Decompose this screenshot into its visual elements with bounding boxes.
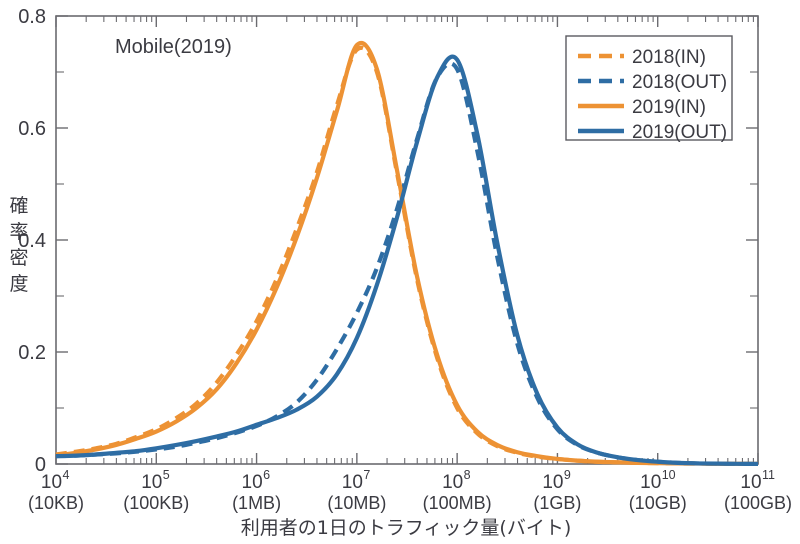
- svg-text:9: 9: [564, 468, 571, 482]
- x-axis-title: 利用者の1日のトラフィック量(バイト): [241, 517, 572, 539]
- y-tick-label: 0.8: [18, 6, 46, 28]
- svg-text:4: 4: [63, 468, 70, 482]
- svg-text:11: 11: [762, 468, 775, 482]
- x-tick-label: 106(1MB): [232, 468, 281, 513]
- svg-text:10: 10: [342, 472, 363, 493]
- x-axis-tick-labels: 104(10KB)105(100KB)106(1MB)107(10MB)108(…: [28, 468, 792, 513]
- svg-text:(10MB): (10MB): [327, 493, 386, 513]
- svg-text:(100GB): (100GB): [724, 493, 792, 513]
- chart-container: 104(10KB)105(100KB)106(1MB)107(10MB)108(…: [0, 0, 800, 544]
- legend-label: 2018(OUT): [632, 72, 727, 93]
- x-tick-label: 1011(100GB): [724, 468, 792, 513]
- svg-text:(10KB): (10KB): [28, 493, 84, 513]
- x-tick-label: 109(1GB): [533, 468, 581, 513]
- x-tick-label: 105(100KB): [123, 468, 189, 513]
- x-tick-label: 107(10MB): [327, 468, 386, 513]
- y-tick-label: 0.2: [18, 342, 46, 364]
- legend-label: 2018(IN): [632, 47, 706, 68]
- x-tick-label: 108(100MB): [423, 468, 492, 513]
- x-tick-label: 1010(10GB): [629, 468, 687, 513]
- svg-text:10: 10: [242, 472, 263, 493]
- y-tick-label: 0.6: [18, 118, 46, 140]
- svg-text:10: 10: [640, 472, 661, 493]
- svg-text:6: 6: [263, 468, 270, 482]
- svg-text:7: 7: [363, 468, 370, 482]
- svg-text:10: 10: [542, 472, 563, 493]
- svg-text:(100KB): (100KB): [123, 493, 189, 513]
- svg-text:10: 10: [442, 472, 463, 493]
- svg-text:密: 密: [9, 247, 28, 269]
- svg-text:10: 10: [662, 468, 676, 482]
- svg-text:8: 8: [464, 468, 471, 482]
- legend-label: 2019(OUT): [632, 122, 727, 143]
- plot-title: Mobile(2019): [115, 36, 232, 58]
- svg-text:度: 度: [9, 273, 28, 295]
- svg-text:率: 率: [9, 221, 28, 243]
- svg-text:(10GB): (10GB): [629, 493, 687, 513]
- svg-text:10: 10: [740, 472, 761, 493]
- probability-density-chart: 104(10KB)105(100KB)106(1MB)107(10MB)108(…: [0, 0, 800, 544]
- svg-text:10: 10: [141, 472, 162, 493]
- svg-text:5: 5: [163, 468, 170, 482]
- svg-text:確: 確: [9, 195, 28, 217]
- legend: 2018(IN)2018(OUT)2019(IN)2019(OUT): [566, 36, 732, 143]
- svg-text:(1MB): (1MB): [232, 493, 281, 513]
- svg-text:(1GB): (1GB): [533, 493, 581, 513]
- y-tick-label: 0: [35, 454, 46, 476]
- legend-label: 2019(IN): [632, 97, 706, 118]
- svg-text:(100MB): (100MB): [423, 493, 492, 513]
